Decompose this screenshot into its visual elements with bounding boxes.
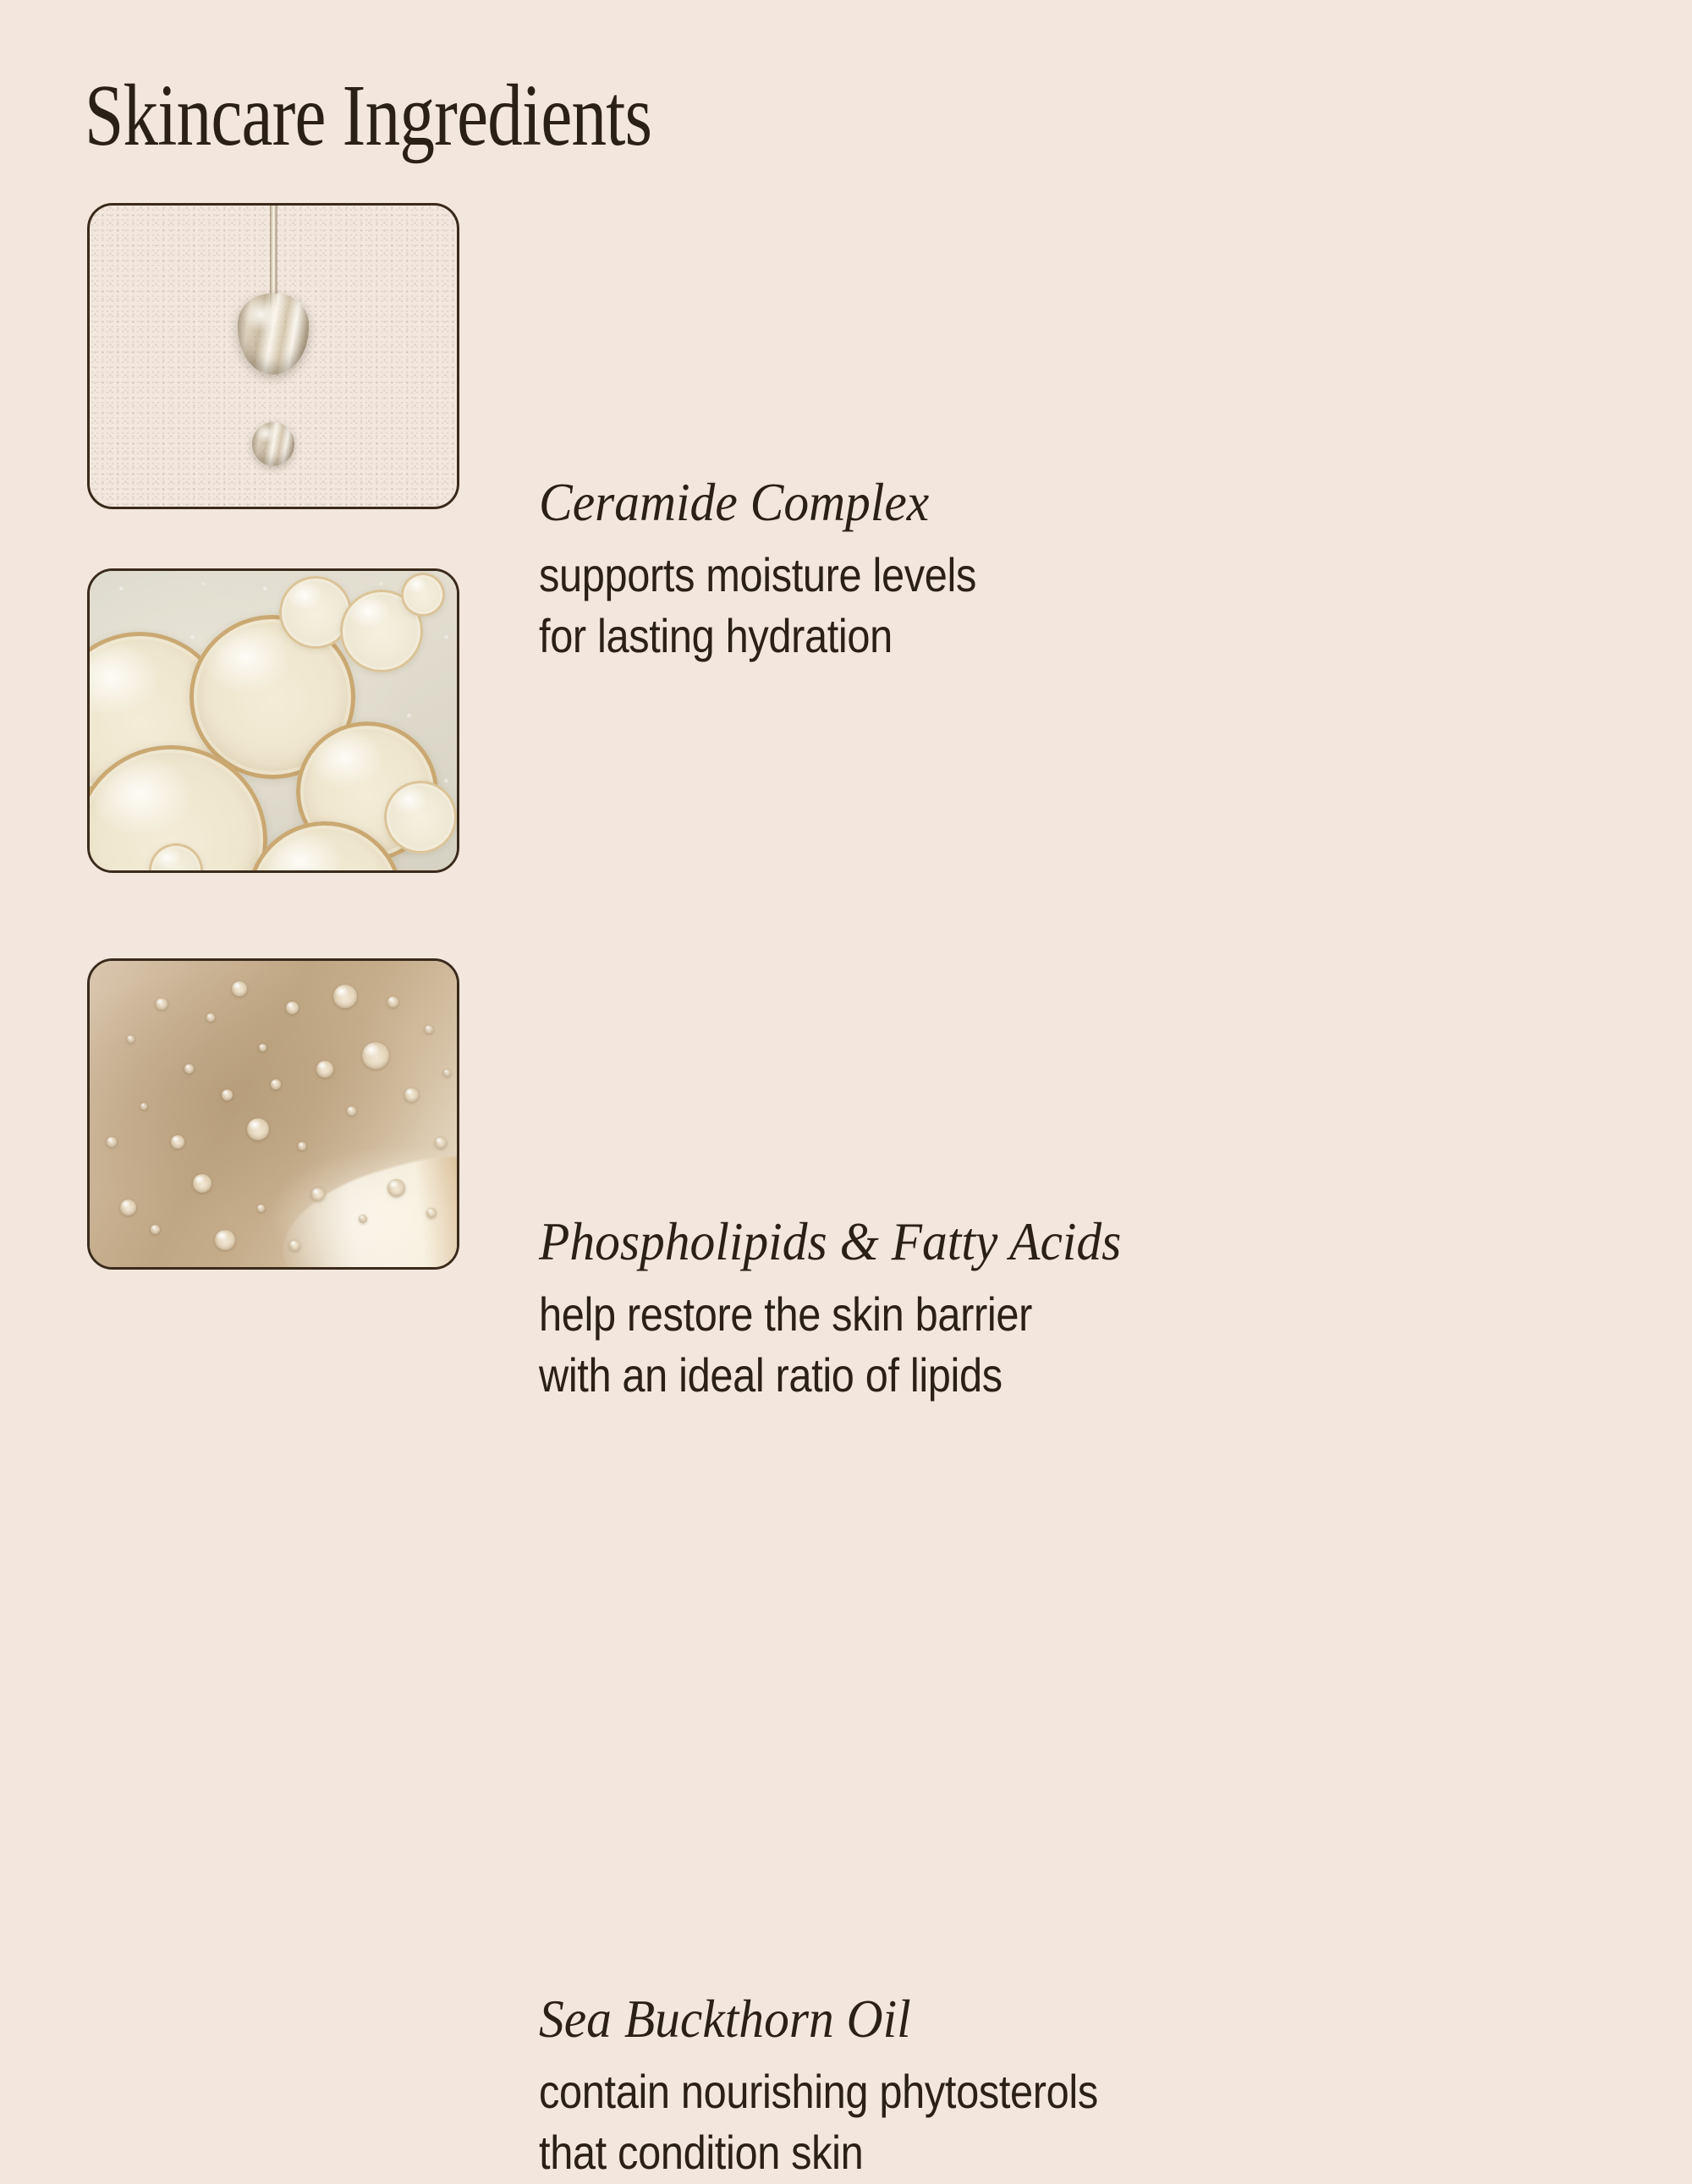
ingredient-description: contain nourishing phytosterols that con… bbox=[539, 2061, 1488, 2184]
micro-bubble bbox=[298, 1142, 306, 1150]
micro-bubble bbox=[247, 1118, 269, 1140]
micro-bubble bbox=[271, 1079, 281, 1089]
description-line-2: with an ideal ratio of lipids bbox=[539, 1345, 1488, 1407]
infographic-page: Skincare Ingredients Ceramide Complex su… bbox=[0, 0, 1692, 1692]
micro-bubble bbox=[359, 1215, 367, 1223]
ingredient-image-phospholipids-fatty-acids bbox=[87, 568, 459, 873]
ingredient-row-phospholipids-fatty-acids: Phospholipids & Fatty Acids help restore… bbox=[0, 568, 1692, 873]
ingredient-image-sea-buckthorn-oil bbox=[87, 958, 459, 1270]
ingredient-description: help restore the skin barrier with an id… bbox=[539, 1284, 1488, 1408]
description-line-1: help restore the skin barrier bbox=[539, 1284, 1488, 1346]
serum-strand bbox=[270, 204, 277, 307]
ingredient-text-sea-buckthorn-oil: Sea Buckthorn Oil contain nourishing phy… bbox=[539, 1989, 1630, 2184]
description-line-2: that condition skin bbox=[539, 2122, 1488, 2184]
micro-bubble bbox=[333, 985, 357, 1008]
micro-bubble bbox=[311, 1188, 325, 1201]
micro-bubble bbox=[107, 1137, 117, 1147]
ingredient-heading: Sea Buckthorn Oil bbox=[539, 1989, 1554, 2050]
ingredient-image-ceramide-complex bbox=[87, 203, 459, 509]
description-line-1: contain nourishing phytosterols bbox=[539, 2061, 1488, 2123]
micro-bubble bbox=[404, 1088, 419, 1102]
ingredient-row-sea-buckthorn-oil: Sea Buckthorn Oil contain nourishing phy… bbox=[0, 958, 1692, 1270]
micro-bubble bbox=[435, 1137, 447, 1149]
micro-bubble bbox=[316, 1061, 333, 1078]
micro-bubble bbox=[215, 1230, 235, 1250]
page-title: Skincare Ingredients bbox=[85, 69, 651, 162]
micro-bubble bbox=[120, 1199, 136, 1215]
ingredient-row-ceramide-complex: Ceramide Complex supports moisture level… bbox=[0, 203, 1692, 509]
micro-bubble bbox=[151, 1225, 160, 1234]
micro-bubble bbox=[206, 1013, 215, 1022]
serum-droplet-small bbox=[252, 422, 294, 466]
micro-bubble bbox=[425, 1025, 433, 1034]
micro-bubble bbox=[140, 1103, 147, 1110]
oil-bubble bbox=[384, 781, 457, 853]
micro-bubble bbox=[232, 981, 247, 996]
micro-bubble bbox=[289, 1240, 300, 1251]
micro-bubble bbox=[257, 1204, 265, 1212]
micro-bubble bbox=[184, 1064, 194, 1073]
micro-bubble bbox=[171, 1135, 184, 1149]
micro-bubble bbox=[222, 1089, 233, 1100]
micro-bubble bbox=[127, 1035, 135, 1043]
micro-bubble bbox=[156, 998, 168, 1010]
micro-bubble bbox=[362, 1042, 389, 1069]
micro-bubble bbox=[387, 996, 398, 1007]
micro-bubble bbox=[443, 1069, 451, 1077]
micro-bubble bbox=[286, 1001, 299, 1014]
micro-bubble bbox=[259, 1044, 266, 1051]
micro-bubble bbox=[347, 1106, 356, 1116]
micro-bubble bbox=[193, 1174, 211, 1193]
ingredient-heading: Ceramide Complex bbox=[539, 472, 1554, 533]
micro-bubble bbox=[387, 1179, 405, 1197]
oil-bubble bbox=[401, 573, 445, 617]
micro-bubble bbox=[426, 1208, 437, 1218]
